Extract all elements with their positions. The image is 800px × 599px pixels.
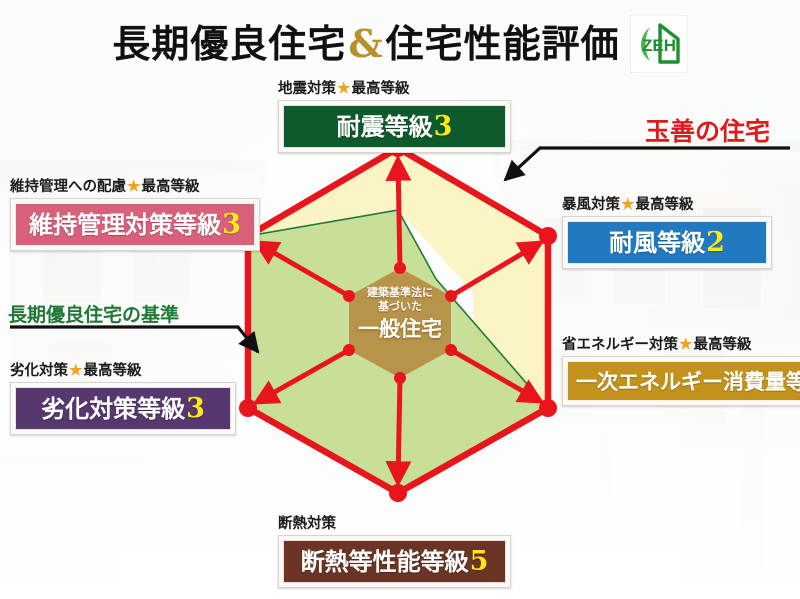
star-icon: ★ — [678, 335, 693, 353]
caption-subject: 断熱対策 — [278, 515, 336, 532]
page-title: 長期優良住宅&住宅性能評価 ZEH — [0, 14, 800, 74]
grade-number: 3 — [433, 111, 453, 142]
card-frame: 断熱等性能等級5 — [278, 535, 511, 588]
title-ampersand: & — [346, 21, 385, 66]
card-caption: 劣化対策★最高等級 — [10, 362, 236, 379]
grade-number: 3 — [185, 393, 205, 424]
caption-subject: 維持管理への配慮 — [10, 178, 126, 195]
grade-badge: 一次エネルギー消費量等級6 — [567, 361, 800, 401]
grade-label: 劣化対策等級 — [41, 394, 185, 423]
grade-label: 維持管理対策等級 — [29, 210, 221, 239]
card-wind: 暴風対策★最高等級 耐風等級2 — [562, 196, 772, 269]
card-frame: 耐風等級2 — [562, 216, 772, 269]
caption-grade-note: 最高等級 — [83, 362, 141, 379]
caption-subject: 暴風対策 — [562, 196, 620, 213]
annotation-brand: 玉善の住宅 — [645, 112, 770, 148]
caption-grade-note: 最高等級 — [635, 196, 693, 213]
caption-subject: 地震対策 — [278, 80, 336, 97]
card-earthquake: 地震対策★最高等級 耐震等級3 — [278, 80, 511, 153]
card-frame: 一次エネルギー消費量等級6 — [562, 356, 800, 406]
grade-label: 一次エネルギー消費量等級 — [576, 369, 800, 394]
caption-subject: 省エネルギー対策 — [562, 336, 678, 353]
card-frame: 耐震等級3 — [278, 100, 511, 153]
caption-grade-note: 最高等級 — [351, 80, 409, 97]
grade-badge: 維持管理対策等級3 — [15, 203, 255, 246]
card-degradation: 劣化対策★最高等級 劣化対策等級3 — [10, 362, 236, 435]
star-icon: ★ — [68, 361, 83, 379]
grade-label: 断熱等性能等級 — [301, 547, 469, 576]
card-frame: 劣化対策等級3 — [10, 382, 236, 435]
title-part-1: 長期優良住宅 — [112, 21, 346, 66]
arrow-quake — [398, 160, 400, 268]
grade-number: 2 — [705, 227, 725, 258]
grade-badge: 耐震等級3 — [283, 105, 506, 148]
leader-standard — [10, 327, 258, 352]
vertex-dot-bottom-left — [239, 399, 257, 417]
card-caption: 断熱対策 — [278, 515, 511, 532]
grade-badge: 断熱等性能等級5 — [283, 540, 506, 583]
arrow-insul — [398, 378, 400, 482]
grade-label: 耐震等級 — [337, 112, 433, 141]
card-frame: 維持管理対策等級3 — [10, 198, 260, 251]
vertex-dot-bottom-right — [539, 399, 557, 417]
caption-grade-note: 最高等級 — [141, 178, 199, 195]
grade-label: 耐風等級 — [609, 228, 705, 257]
annotation-standard: 長期優良住宅の基準 — [8, 300, 179, 327]
card-caption: 暴風対策★最高等級 — [562, 196, 772, 213]
star-icon: ★ — [336, 79, 351, 97]
grade-number: 3 — [221, 209, 241, 240]
card-maintenance: 維持管理への配慮★最高等級 維持管理対策等級3 — [10, 178, 260, 251]
card-caption: 維持管理への配慮★最高等級 — [10, 178, 260, 195]
grade-badge: 劣化対策等級3 — [15, 387, 231, 430]
card-insulation: 断熱対策 断熱等性能等級5 — [278, 515, 511, 588]
title-text: 長期優良住宅&住宅性能評価 — [112, 25, 619, 63]
star-icon: ★ — [620, 195, 635, 213]
card-energy: 省エネルギー対策★最高等級 一次エネルギー消費量等級6 — [562, 336, 800, 406]
card-caption: 省エネルギー対策★最高等級 — [562, 336, 800, 353]
star-icon — [336, 514, 338, 532]
star-icon: ★ — [126, 177, 141, 195]
leader-brand — [505, 148, 790, 180]
caption-grade-note: 最高等級 — [693, 336, 751, 353]
title-part-2: 住宅性能評価 — [386, 21, 620, 66]
vertex-dot-top-right — [539, 227, 557, 245]
grade-number: 5 — [469, 546, 489, 577]
vertex-dot-bottom — [389, 484, 407, 502]
card-caption: 地震対策★最高等級 — [278, 80, 511, 97]
zeh-logo-text: ZEH — [642, 36, 676, 55]
grade-badge: 耐風等級2 — [567, 221, 767, 264]
zeh-logo: ZEH — [630, 15, 688, 73]
caption-subject: 劣化対策 — [10, 362, 68, 379]
